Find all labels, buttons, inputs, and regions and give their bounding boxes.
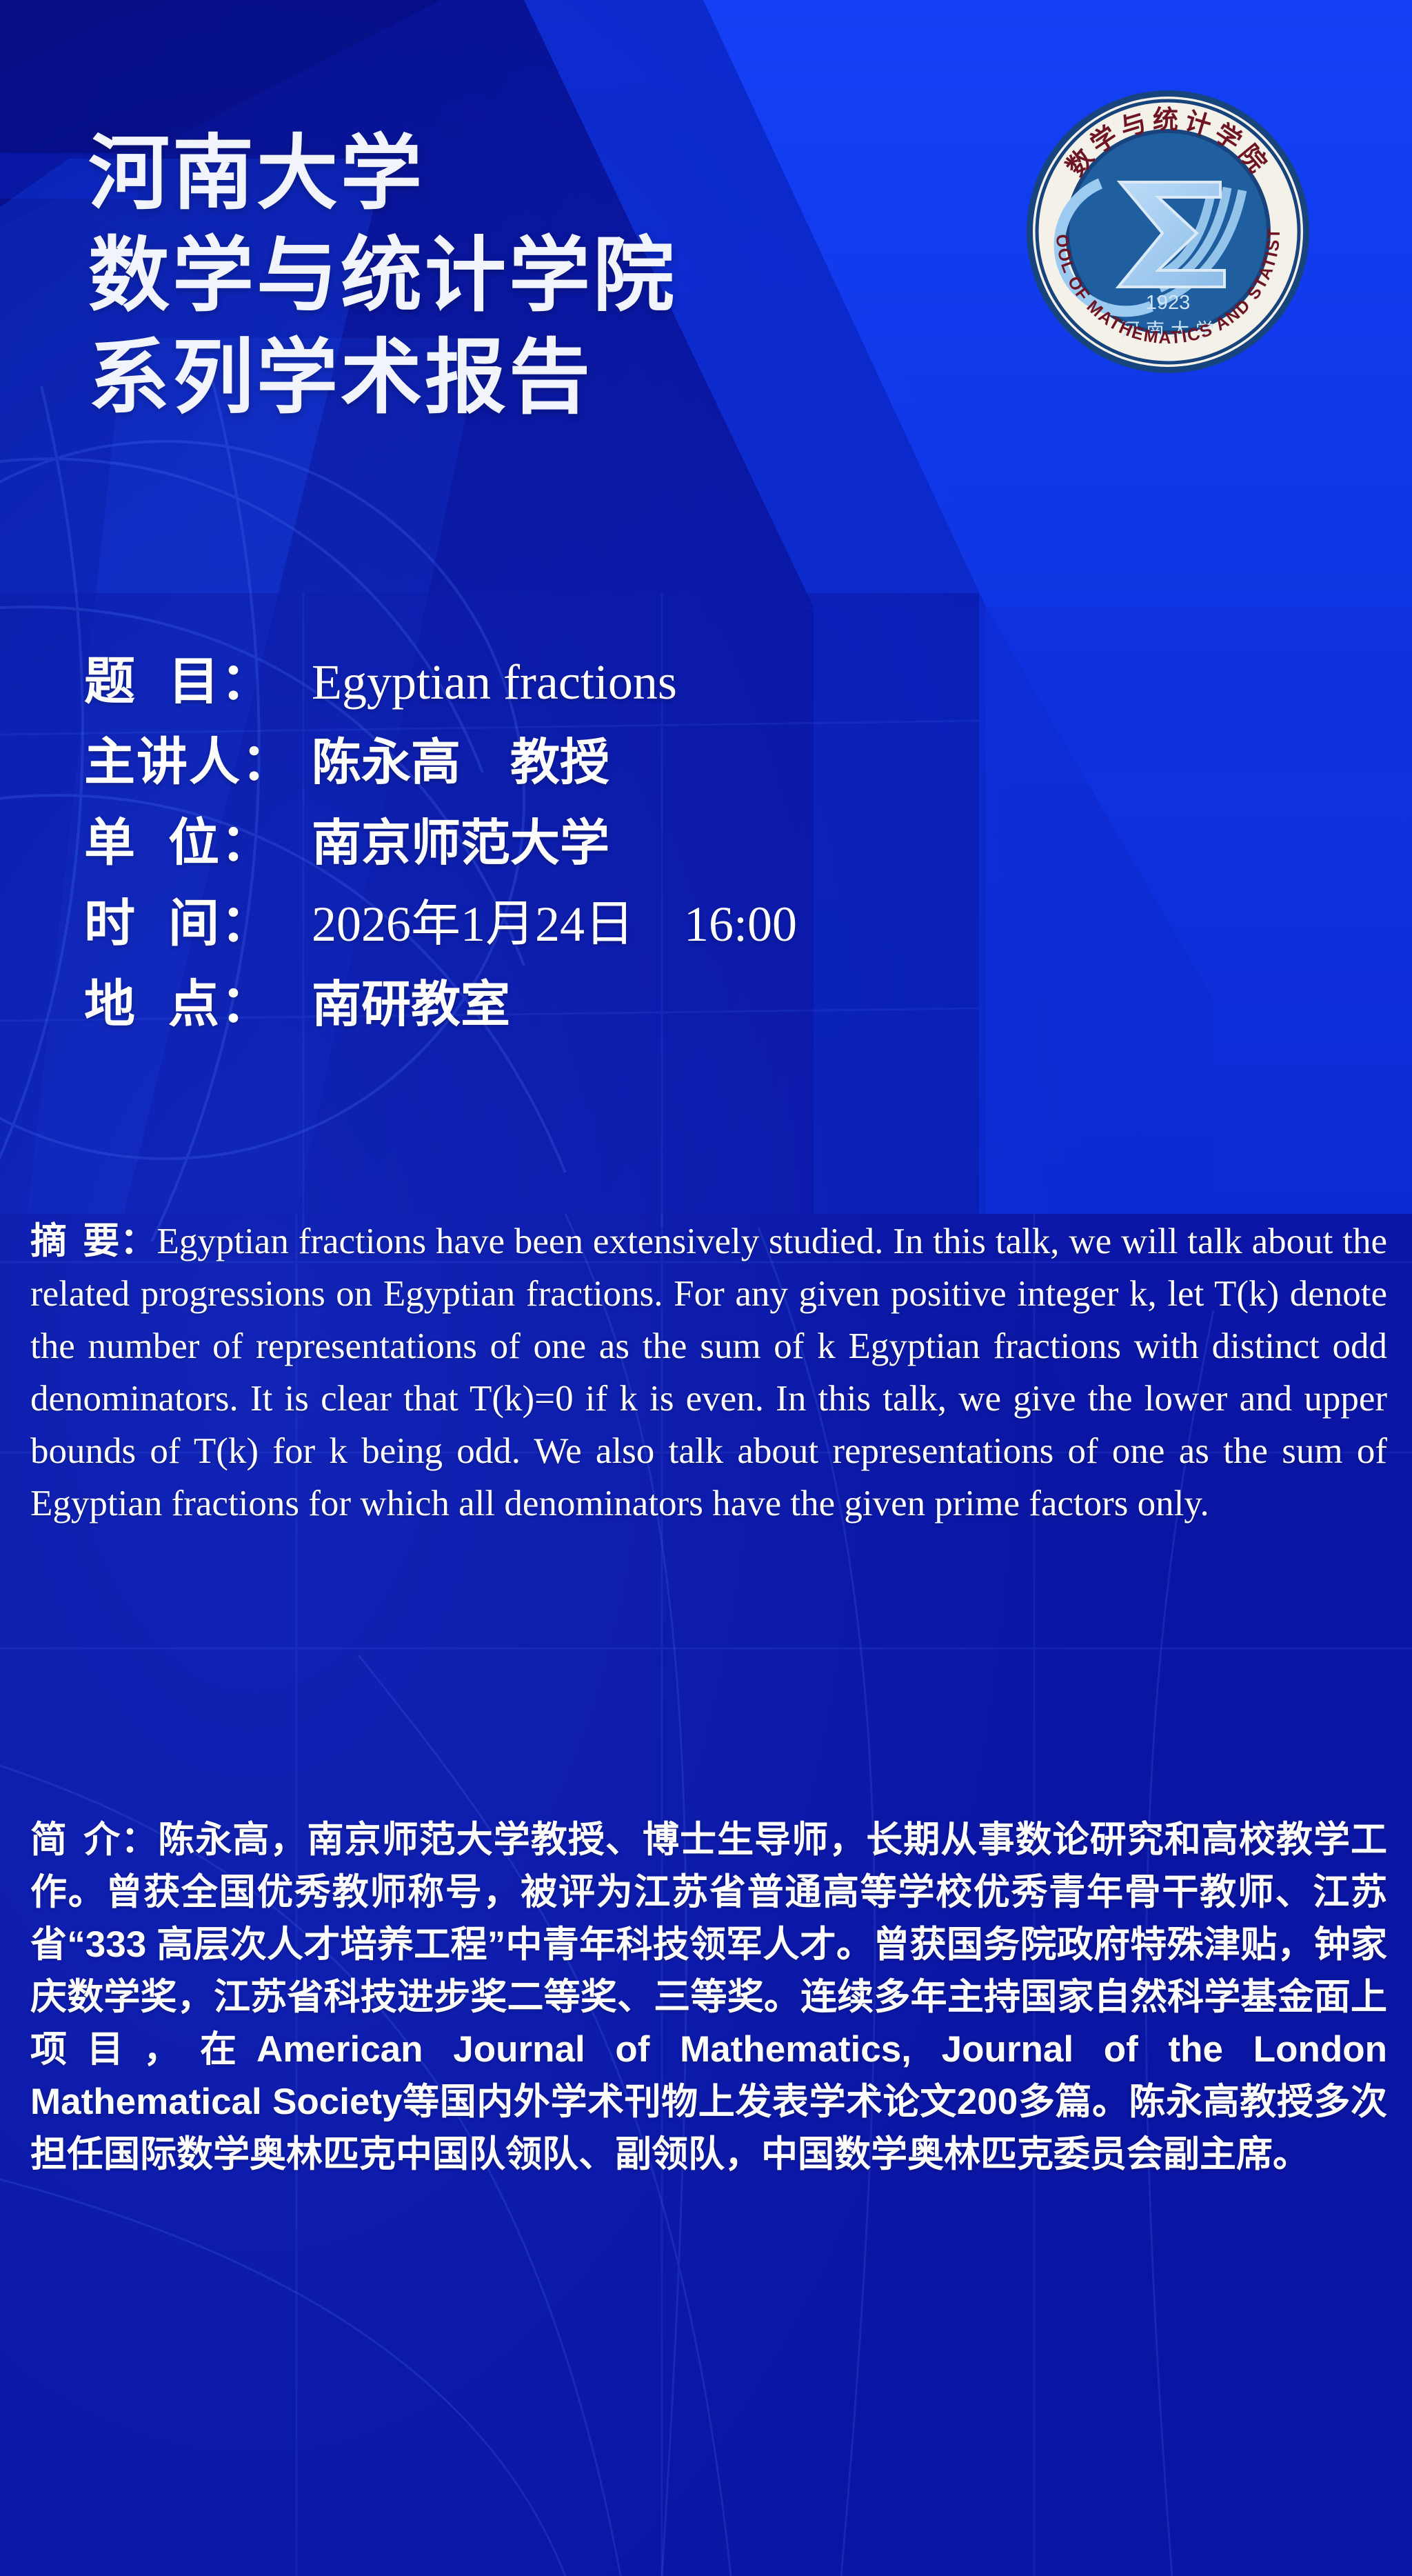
seal-icon: 1923 河南大学 数学与统计学院 SCHOOL OF MATHEMATICS … xyxy=(1023,87,1313,377)
page-title: 河南大学 数学与统计学院 系列学术报告 xyxy=(88,123,677,429)
info-value-venue: 南研教室 xyxy=(312,963,510,1036)
info-value-affiliation: 南京师范大学 xyxy=(312,802,609,875)
event-info-list: 题目： Egyptian fractions 主讲人： 陈永高 教授 单位： 南… xyxy=(84,640,1339,1044)
bio-text: 陈永高，南京师范大学教授、博士生导师，长期从事数论研究和高校教学工作。曾获全国优… xyxy=(30,1819,1387,2175)
info-label-speaker: 主讲人： xyxy=(84,721,312,795)
info-row-venue: 地点： 南研教室 xyxy=(84,963,1339,1029)
abstract-section: 摘要：Egyptian fractions have been extensiv… xyxy=(30,1215,1387,1530)
title-line-3: 系列学术报告 xyxy=(88,327,677,429)
info-row-datetime: 时间： 2026年1月24日 16:00 xyxy=(84,882,1339,948)
info-value-topic: Egyptian fractions xyxy=(312,654,677,711)
abstract-label: 摘要： xyxy=(30,1221,157,1261)
poster-header: 河南大学 数学与统计学院 系列学术报告 xyxy=(0,0,1412,607)
title-line-1: 河南大学 xyxy=(88,123,677,225)
school-seal-logo: 1923 河南大学 数学与统计学院 SCHOOL OF MATHEMATICS … xyxy=(1023,87,1313,377)
abstract-text: Egyptian fractions have been extensively… xyxy=(30,1221,1387,1524)
bio-paragraph: 简介：陈永高，南京师范大学教授、博士生导师，长期从事数论研究和高校教学工作。曾获… xyxy=(30,1814,1387,2181)
title-line-2: 数学与统计学院 xyxy=(88,225,677,327)
info-label-topic: 题目： xyxy=(84,640,312,714)
info-row-affiliation: 单位： 南京师范大学 xyxy=(84,801,1339,868)
info-label-datetime: 时间： xyxy=(84,882,312,956)
info-label-venue: 地点： xyxy=(84,963,312,1037)
info-value-speaker: 陈永高 教授 xyxy=(312,721,609,794)
bio-label: 简介： xyxy=(30,1819,158,1860)
info-value-datetime: 2026年1月24日 16:00 xyxy=(312,883,797,955)
speaker-bio-section: 简介：陈永高，南京师范大学教授、博士生导师，长期从事数论研究和高校教学工作。曾获… xyxy=(30,1814,1387,2181)
info-row-topic: 题目： Egyptian fractions xyxy=(84,640,1339,706)
abstract-paragraph: 摘要：Egyptian fractions have been extensiv… xyxy=(30,1215,1387,1530)
seal-year: 1923 xyxy=(1146,292,1191,314)
info-row-speaker: 主讲人： 陈永高 教授 xyxy=(84,721,1339,787)
info-label-affiliation: 单位： xyxy=(84,801,312,875)
